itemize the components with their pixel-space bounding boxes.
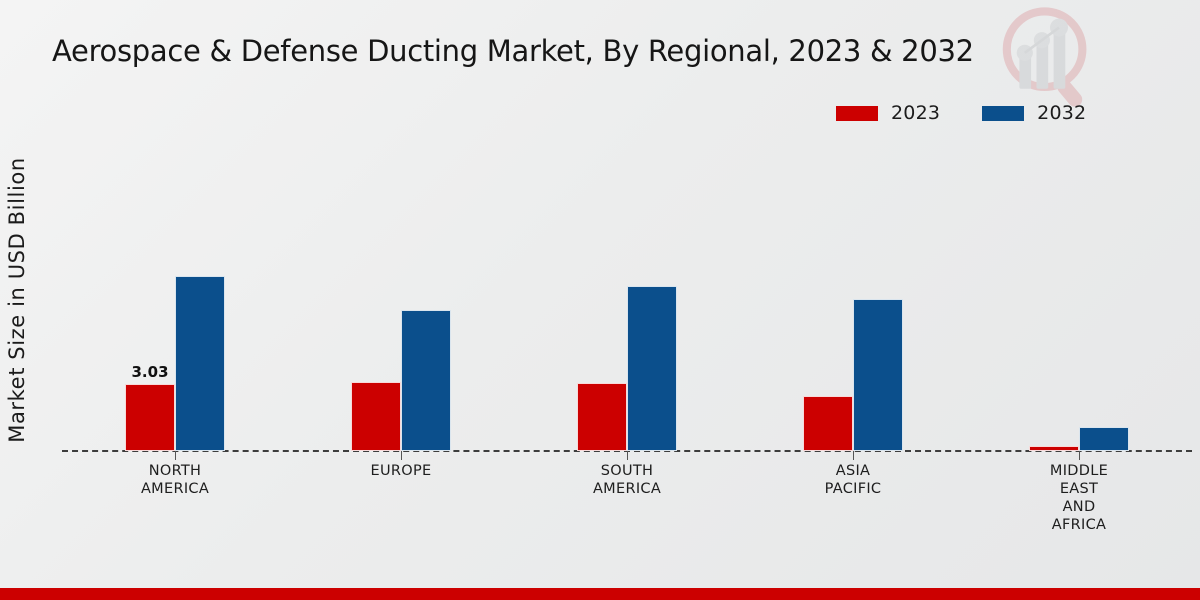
category-label-line: PACIFIC [740, 480, 966, 498]
x-axis-category-label: EUROPE [288, 462, 514, 480]
bar-value-label: 3.03 [131, 363, 168, 381]
x-axis-baseline [62, 450, 1192, 452]
chart-title: Aerospace & Defense Ducting Market, By R… [52, 34, 974, 68]
bar-group: ASIAPACIFIC [740, 0, 966, 600]
bar-2032[interactable] [1079, 427, 1129, 451]
category-label-line: AMERICA [62, 480, 288, 498]
legend-swatch-2023 [836, 106, 878, 121]
x-axis-category-label: NORTHAMERICA [62, 462, 288, 498]
category-label-line: AMERICA [514, 480, 740, 498]
bar-2023[interactable] [125, 384, 175, 451]
x-axis-category-label: MIDDLEEASTANDAFRICA [966, 462, 1192, 534]
category-label-line: EUROPE [288, 462, 514, 480]
legend-label-2032: 2032 [1037, 102, 1086, 124]
footer-accent-bar [0, 588, 1200, 600]
legend-item-2023[interactable]: 2023 [836, 102, 940, 124]
category-label-line: AFRICA [966, 516, 1192, 534]
x-axis-tick [175, 451, 176, 460]
x-axis-category-label: ASIAPACIFIC [740, 462, 966, 498]
bar-groups: 3.03NORTHAMERICAEUROPESOUTHAMERICAASIAPA… [62, 0, 1192, 600]
bar-2023[interactable] [803, 396, 853, 451]
legend-item-2032[interactable]: 2032 [982, 102, 1086, 124]
legend-label-2023: 2023 [891, 102, 940, 124]
bar-2023[interactable] [1029, 446, 1079, 451]
chart-legend: 2023 2032 [836, 102, 1086, 124]
category-label-line: AND [966, 498, 1192, 516]
bar-2032[interactable] [175, 276, 225, 451]
plot-area: 3.03NORTHAMERICAEUROPESOUTHAMERICAASIAPA… [0, 0, 1200, 600]
x-axis-tick [1079, 451, 1080, 460]
x-axis-category-label: SOUTHAMERICA [514, 462, 740, 498]
legend-swatch-2032 [982, 106, 1024, 121]
category-label-line: ASIA [740, 462, 966, 480]
bar-2023[interactable] [351, 382, 401, 451]
bar-2032[interactable] [627, 286, 677, 451]
category-label-line: NORTH [62, 462, 288, 480]
category-label-line: EAST [966, 480, 1192, 498]
bar-group: EUROPE [288, 0, 514, 600]
bar-2032[interactable] [853, 299, 903, 451]
x-axis-tick [627, 451, 628, 460]
bar-group: SOUTHAMERICA [514, 0, 740, 600]
x-axis-tick [401, 451, 402, 460]
category-label-line: MIDDLE [966, 462, 1192, 480]
bar-group: MIDDLEEASTANDAFRICA [966, 0, 1192, 600]
bar-2023[interactable] [577, 383, 627, 451]
bar-2032[interactable] [401, 310, 451, 451]
x-axis-tick [853, 451, 854, 460]
category-label-line: SOUTH [514, 462, 740, 480]
y-axis-title: Market Size in USD Billion [0, 0, 34, 600]
bar-group: 3.03NORTHAMERICA [62, 0, 288, 600]
watermark [996, 2, 1104, 118]
